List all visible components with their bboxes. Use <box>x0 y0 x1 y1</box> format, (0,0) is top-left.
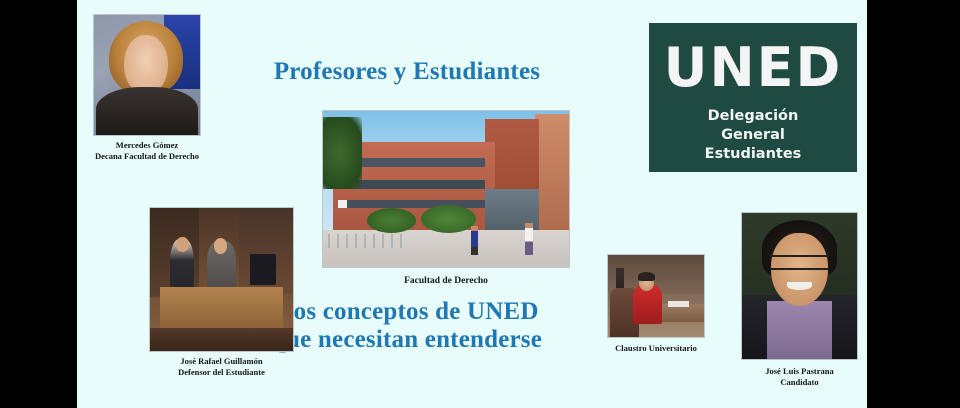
portrait-mercedes-gomez-image <box>93 14 201 136</box>
foreground-bench-shape <box>150 328 293 351</box>
photo-caption-claustro-universitario: Claustro Universitario <box>607 343 705 354</box>
tree-shape <box>323 117 362 189</box>
shrub-right-shape <box>421 205 475 233</box>
uned-sublabel-line2: General <box>649 126 857 145</box>
podium-shape <box>160 287 283 330</box>
bike-rack-shape <box>328 234 407 248</box>
uned-sublabel: Delegación General Estudiantes <box>649 107 857 164</box>
photo-facultad-derecho-building-image <box>322 110 570 268</box>
photo-caption-facultad-de-derecho: Facultad de Derecho <box>322 275 570 287</box>
caption-line-2: Candidato <box>741 377 858 388</box>
caption-line-1: Mercedes Gómez <box>116 140 178 150</box>
heading-dos-conceptos-line2: que necesitan entenderse <box>272 326 542 353</box>
uned-wordmark: UNED <box>649 41 857 95</box>
heading-dos-conceptos-line1: Dos conceptos de UNED <box>275 298 538 325</box>
uned-logo: UNED Delegación General Estudiantes <box>649 23 857 172</box>
pedestrian-2-shape <box>525 223 533 254</box>
slide-canvas: Profesores y Estudiantes Dos conceptos d… <box>77 0 867 408</box>
portrait-jose-luis-pastrana-image <box>741 212 858 360</box>
building-far-shape <box>535 114 569 233</box>
shrub-left-shape <box>367 208 416 233</box>
uned-sublabel-line1: Delegación <box>649 107 857 126</box>
slide-root: Profesores y Estudiantes Dos conceptos d… <box>0 0 960 408</box>
person-hair-shape <box>638 272 655 281</box>
photo-caption-jose-luis-pastrana: José Luis Pastrana Candidato <box>741 366 858 388</box>
caption-line-1: José Luis Pastrana <box>765 366 833 376</box>
uned-sublabel-line3: Estudiantes <box>649 145 857 164</box>
heading-profesores-y-estudiantes: Profesores y Estudiantes <box>232 58 582 86</box>
person-standing-head-shape <box>176 237 189 253</box>
photo-lecture-hall-guillamon-image <box>149 207 294 352</box>
caption-line-2: Decana Facultad de Derecho <box>93 151 201 162</box>
shirt-shape <box>767 301 831 359</box>
glasses-shape <box>770 255 830 270</box>
photo-caption-mercedes-gomez: Mercedes Gómez Decana Facultad de Derech… <box>93 140 201 162</box>
pedestrian-1-shape <box>471 226 478 254</box>
photo-caption-jose-rafael-guillamon: José Rafael Guillamón Defensor del Estud… <box>149 356 294 378</box>
photo-card-facultad-de-derecho: Facultad de Derecho <box>322 110 570 287</box>
monitor-shape <box>250 254 276 285</box>
person-speaking-head-shape <box>214 238 227 254</box>
torso-shape <box>96 87 198 136</box>
papers-shape <box>668 301 689 308</box>
photo-card-mercedes-gomez: Mercedes Gómez Decana Facultad de Derech… <box>93 14 201 162</box>
photo-card-jose-rafael-guillamon: José Rafael Guillamón Defensor del Estud… <box>149 207 294 378</box>
photo-card-jose-luis-pastrana: José Luis Pastrana Candidato <box>741 212 858 388</box>
caption-line-1: Claustro Universitario <box>615 343 697 353</box>
caption-line-1: Facultad de Derecho <box>404 276 488 286</box>
caption-line-2: Defensor del Estudiante <box>149 367 294 378</box>
photo-claustro-universitario-image <box>607 254 705 338</box>
photo-card-claustro-universitario: Claustro Universitario <box>607 254 705 354</box>
caption-line-1: José Rafael Guillamón <box>180 356 262 366</box>
